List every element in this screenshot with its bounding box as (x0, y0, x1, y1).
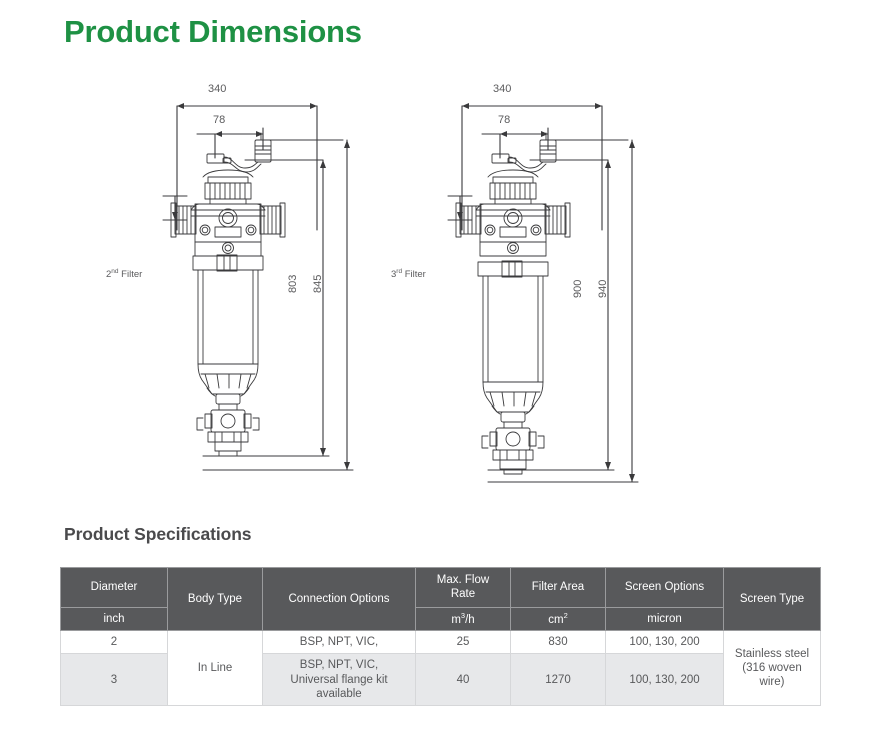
column-header-body-type: Body Type (168, 568, 263, 631)
cell-max-flow-rate: 40 (416, 654, 511, 706)
column-header-filter-area: Filter Area (511, 568, 606, 608)
dim-width-inner-left: 78 (213, 114, 225, 126)
cell-screen-type: Stainless steel(316 wovenwire) (724, 630, 821, 706)
drawing-third-filter: 340 78 900 940 3rd Filter (380, 78, 700, 498)
column-header-max-flow-rate: Max. FlowRate (416, 568, 511, 608)
cell-connection-options: BSP, NPT, VIC, (263, 630, 416, 653)
drawing-second-filter: 340 78 803 845 2nd Filter (95, 78, 415, 498)
section-title-product-specifications: Product Specifications (64, 524, 251, 545)
product-specifications-table: Diameter Body Type Connection Options Ma… (60, 567, 821, 706)
cell-connection-options: BSP, NPT, VIC,Universal flange kitavaila… (263, 654, 416, 706)
cell-screen-options: 100, 130, 200 (606, 654, 724, 706)
part-label-third-filter: 3rd Filter (391, 268, 426, 280)
cell-filter-area: 830 (511, 630, 606, 653)
dim-width-overall-right: 340 (493, 83, 511, 95)
cell-diameter: 3 (61, 654, 168, 706)
unit-screen-options: micron (606, 607, 724, 630)
dim-height-inner-right: 900 (572, 280, 584, 298)
cell-max-flow-rate: 25 (416, 630, 511, 653)
dim-height-overall-right: 940 (597, 280, 609, 298)
dim-width-inner-right: 78 (498, 114, 510, 126)
technical-drawings: 340 78 803 845 2nd Filter (0, 78, 880, 498)
filter-svg-second (95, 78, 415, 498)
unit-max-flow-rate: m3/h (416, 607, 511, 630)
filter-svg-third (380, 78, 700, 498)
unit-diameter: inch (61, 607, 168, 630)
table-header: Diameter Body Type Connection Options Ma… (61, 568, 821, 631)
page-title: Product Dimensions (64, 14, 362, 50)
cell-body-type: In Line (168, 630, 263, 706)
cell-screen-options: 100, 130, 200 (606, 630, 724, 653)
cell-filter-area: 1270 (511, 654, 606, 706)
dim-height-overall-left: 845 (312, 275, 324, 293)
dim-width-overall-left: 340 (208, 83, 226, 95)
unit-filter-area: cm2 (511, 607, 606, 630)
column-header-connection-options: Connection Options (263, 568, 416, 631)
product-datasheet-page: Product Dimensions 340 78 803 845 2nd Fi… (0, 0, 880, 742)
column-header-diameter: Diameter (61, 568, 168, 608)
cell-diameter: 2 (61, 630, 168, 653)
column-header-screen-options: Screen Options (606, 568, 724, 608)
dim-height-inner-left: 803 (287, 275, 299, 293)
part-label-second-filter: 2nd Filter (106, 268, 142, 280)
table-header-row-titles: Diameter Body Type Connection Options Ma… (61, 568, 821, 608)
table-body: 2 In Line BSP, NPT, VIC, 25 830 100, 130… (61, 630, 821, 706)
column-header-screen-type: Screen Type (724, 568, 821, 631)
table-row: 2 In Line BSP, NPT, VIC, 25 830 100, 130… (61, 630, 821, 653)
